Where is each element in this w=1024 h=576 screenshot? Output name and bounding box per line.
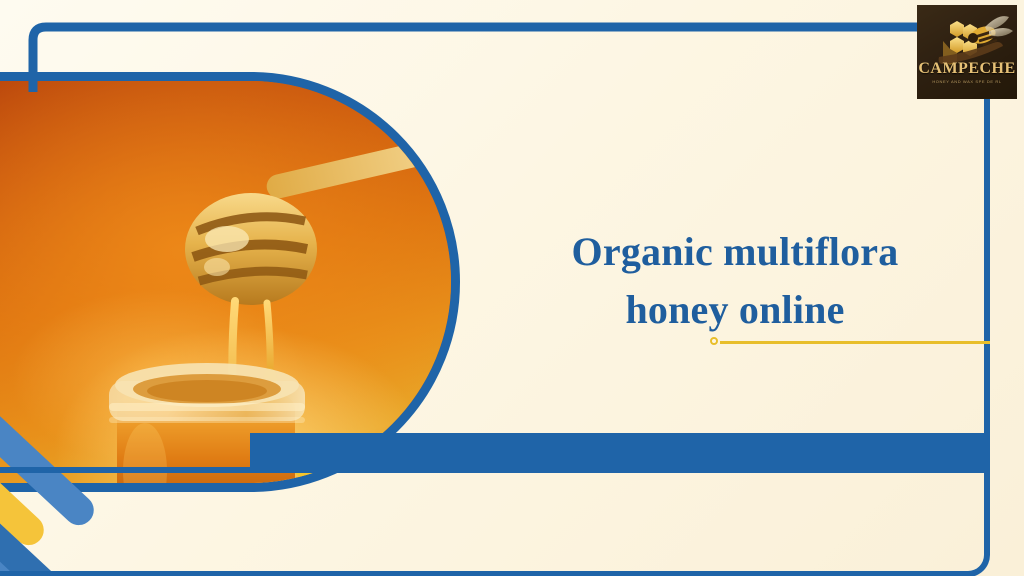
gold-accent-decor bbox=[710, 336, 988, 348]
gold-accent-rule bbox=[720, 341, 990, 344]
bottom-frame-outline bbox=[0, 467, 990, 576]
bee-icon bbox=[968, 16, 1013, 47]
logo-brand-name: CAMPECHE bbox=[917, 60, 1017, 78]
bee-honeycomb-icon bbox=[917, 5, 1017, 99]
honey-dipper-icon bbox=[185, 138, 440, 305]
right-vertical-rule bbox=[984, 96, 990, 496]
top-corner-hook-line bbox=[28, 22, 918, 92]
headline-line-2: honey online bbox=[500, 281, 970, 339]
page-title: Organic multiflora honey online bbox=[500, 223, 970, 339]
gold-accent-dot bbox=[710, 337, 718, 345]
logo-tagline: HONEY AND WAX SPE DE RL bbox=[917, 79, 1017, 84]
promo-banner: Organic multiflora honey online bbox=[0, 0, 1024, 576]
headline-line-1: Organic multiflora bbox=[572, 229, 899, 274]
brand-logo[interactable]: CAMPECHE HONEY AND WAX SPE DE RL bbox=[917, 5, 1017, 99]
bottom-blue-bar bbox=[250, 433, 990, 467]
